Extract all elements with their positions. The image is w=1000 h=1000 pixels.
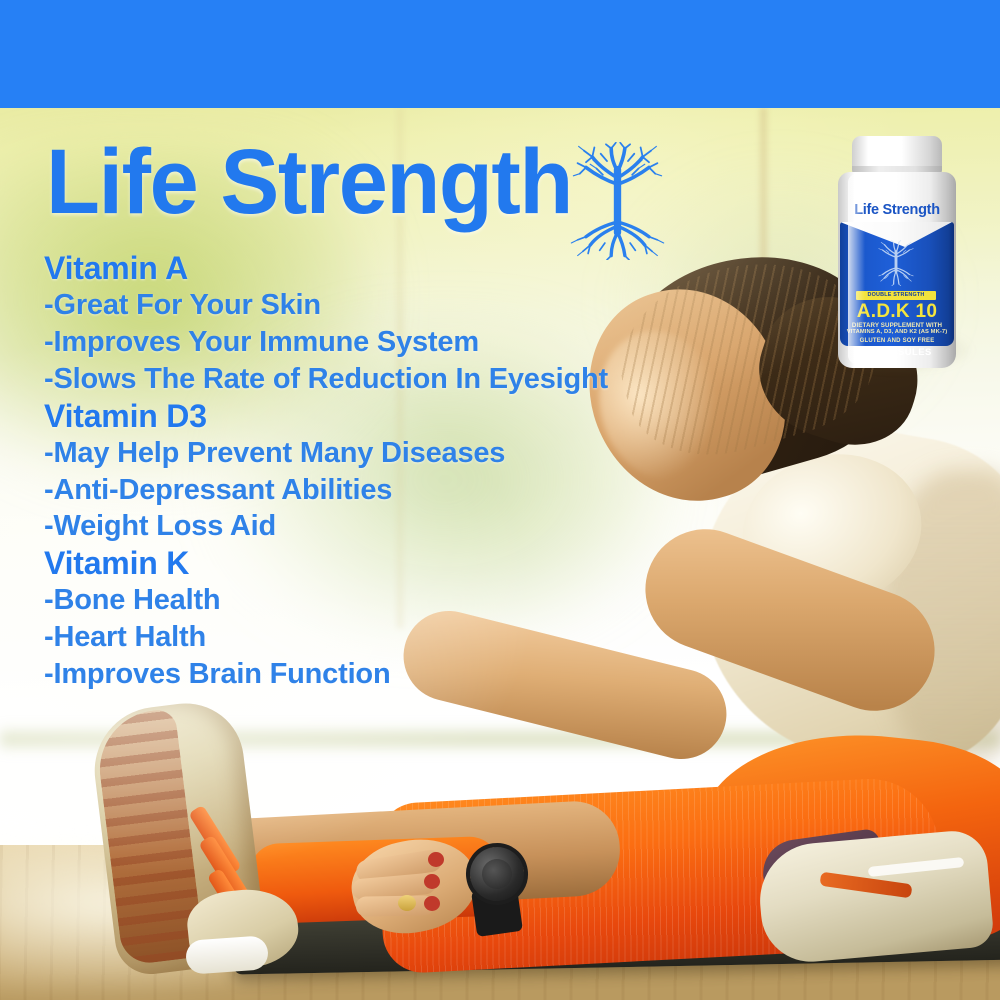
wedding-ring <box>398 895 416 911</box>
fingernail-2 <box>424 874 440 889</box>
benefit-item: -May Help Prevent Many Diseases <box>44 435 684 472</box>
benefit-item: -Bone Health <box>44 582 684 619</box>
benefit-item: -Weight Loss Aid <box>44 508 684 545</box>
tree-with-roots-logo <box>565 142 670 260</box>
bottle-gloss-highlight <box>848 174 865 364</box>
benefit-group-vitamin-k: Vitamin K -Bone Health -Heart Halth -Imp… <box>44 545 684 693</box>
benefit-heading: Vitamin A <box>44 250 684 287</box>
benefit-heading: Vitamin D3 <box>44 398 684 435</box>
right-shoe <box>755 828 994 966</box>
double-strength-badge: DOUBLE STRENGTH <box>856 291 936 300</box>
white-sock <box>185 935 269 975</box>
promo-poster: Life Strength <box>0 0 1000 1000</box>
benefit-item: -Heart Halth <box>44 619 684 656</box>
benefit-item: -Improves Brain Function <box>44 656 684 693</box>
fingernail-3 <box>424 896 440 911</box>
benefit-item: -Great For Your Skin <box>44 287 684 324</box>
watch-face <box>480 857 514 891</box>
benefit-item: -Anti-Depressant Abilities <box>44 472 684 509</box>
bottle-tree-logo <box>872 240 920 286</box>
benefit-heading: Vitamin K <box>44 545 684 582</box>
benefit-item: -Improves Your Immune System <box>44 324 684 361</box>
benefit-group-vitamin-a: Vitamin A -Great For Your Skin -Improves… <box>44 250 684 398</box>
fingernail-1 <box>428 852 444 867</box>
page-title: Life Strength <box>46 136 572 228</box>
top-blue-banner <box>0 0 1000 108</box>
benefit-item: -Slows The Rate of Reduction In Eyesight <box>44 361 684 398</box>
finger-3 <box>356 895 434 916</box>
product-bottle: Life Strength <box>828 136 964 368</box>
benefits-list: Vitamin A -Great For Your Skin -Improves… <box>44 250 684 693</box>
benefit-group-vitamin-d3: Vitamin D3 -May Help Prevent Many Diseas… <box>44 398 684 546</box>
